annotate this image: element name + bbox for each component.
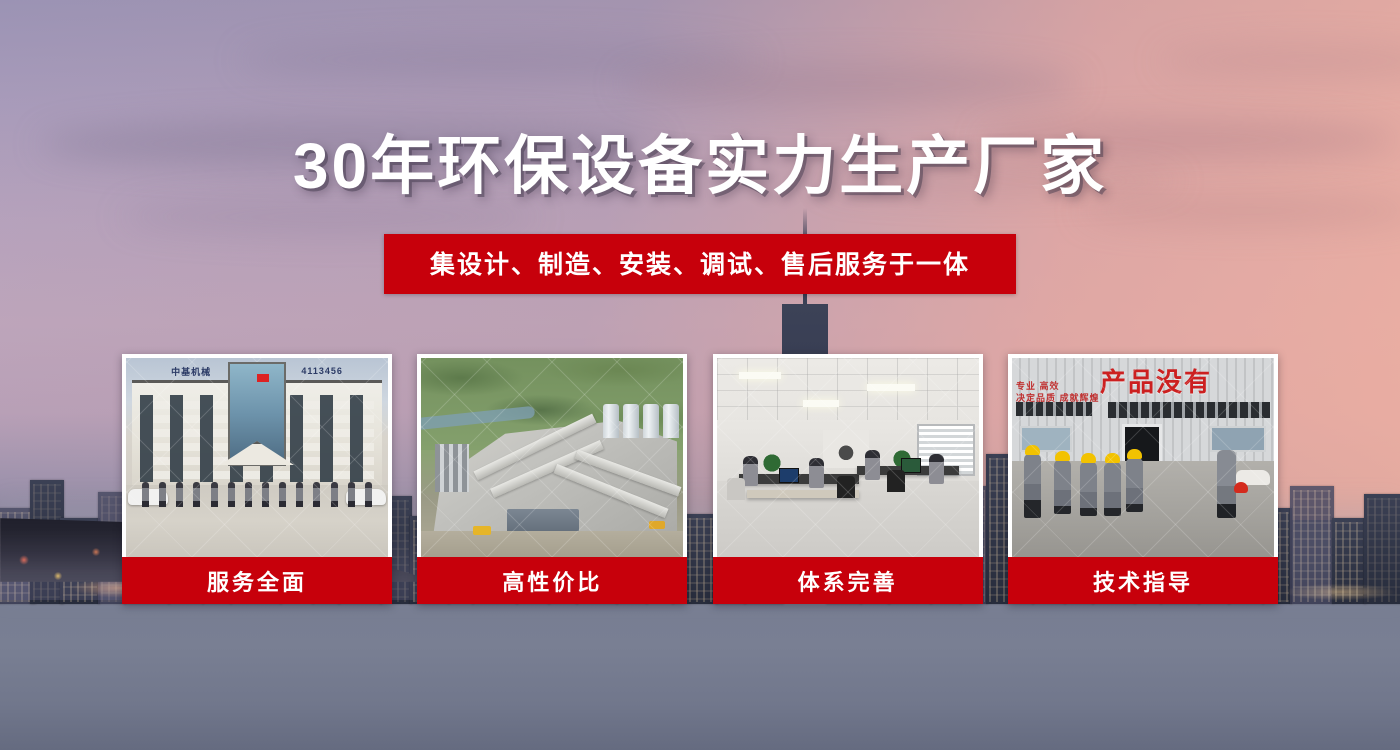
silo	[603, 404, 619, 438]
page-title: 30年环保设备实力生产厂家	[0, 132, 1400, 201]
hard-hat-icon	[1127, 449, 1142, 459]
entrance-pediment	[220, 441, 294, 465]
silo	[623, 404, 639, 438]
feature-card-row: 中基机械 4113456 服务全面	[122, 354, 1278, 604]
card-caption: 技术指导	[1008, 557, 1278, 604]
office-worker	[929, 454, 944, 484]
ceiling-light	[867, 384, 915, 391]
worker-figure	[1080, 462, 1097, 516]
card-photo-office-building: 中基机械 4113456	[126, 358, 388, 557]
subtitle-banner-wrap: 集设计、制造、安装、调试、售后服务于一体	[0, 234, 1400, 294]
worker-figure	[1104, 462, 1121, 516]
staff-lineup	[142, 479, 372, 507]
card-caption: 体系完善	[713, 557, 983, 604]
banner-stage: 30年环保设备实力生产厂家 集设计、制造、安装、调试、售后服务于一体 中基机械 …	[0, 0, 1400, 750]
company-phone-text: 4113456	[301, 366, 343, 376]
card-photo-workers-training: 产品没有 专业 高效决定品质 成就辉煌	[1012, 358, 1274, 557]
silo	[663, 404, 679, 438]
cloud-shape	[1160, 44, 1400, 78]
wall-slogan-text: 产品没有	[1100, 362, 1212, 399]
feature-card[interactable]: 高性价比	[417, 354, 687, 604]
ceiling-grid	[717, 358, 979, 420]
worker-figure	[1126, 458, 1143, 512]
card-caption: 服务全面	[122, 557, 392, 604]
supervisor-figure	[1217, 450, 1236, 518]
office-chair	[837, 476, 855, 498]
hard-hat-icon	[1025, 445, 1040, 455]
process-stacks	[435, 444, 469, 492]
office-chair	[727, 478, 745, 500]
red-hard-hat-icon	[1234, 482, 1248, 493]
card-caption: 高性价比	[417, 557, 687, 604]
plant-yard	[421, 531, 683, 557]
cloud-shape	[620, 62, 1080, 106]
card-photo-plant-aerial	[421, 358, 683, 557]
excavator	[649, 521, 665, 529]
ceiling-light	[803, 400, 839, 407]
office-worker	[809, 458, 824, 488]
office-chair	[887, 470, 905, 492]
excavator	[473, 526, 491, 535]
factory-window	[1210, 426, 1266, 452]
office-worker	[743, 456, 758, 486]
subtitle-banner: 集设计、制造、安装、调试、售后服务于一体	[384, 234, 1016, 294]
cloud-shape	[240, 40, 760, 80]
flag-icon	[257, 374, 269, 382]
silo	[643, 404, 659, 438]
office-worker	[865, 450, 880, 480]
feature-card[interactable]: 体系完善	[713, 354, 983, 604]
ceiling-light	[739, 372, 781, 379]
cloud-shape	[120, 200, 540, 234]
card-photo-office-interior	[717, 358, 979, 557]
hard-hat-icon	[1055, 451, 1070, 461]
wall-slogan-small-text: 专业 高效决定品质 成就辉煌	[1016, 380, 1100, 404]
hard-hat-icon	[1081, 453, 1096, 463]
factory-window-strip	[1108, 402, 1270, 418]
monitor	[779, 468, 799, 483]
company-sign-text: 中基机械	[171, 365, 211, 378]
worker-figure	[1024, 454, 1041, 518]
wall-logo-icon	[823, 430, 869, 468]
feature-card[interactable]: 中基机械 4113456 服务全面	[122, 354, 392, 604]
feature-card[interactable]: 产品没有 专业 高效决定品质 成就辉煌 技术指导	[1008, 354, 1278, 604]
worker-figure	[1054, 460, 1071, 514]
factory-window-strip	[1016, 402, 1092, 416]
hard-hat-icon	[1105, 453, 1120, 463]
